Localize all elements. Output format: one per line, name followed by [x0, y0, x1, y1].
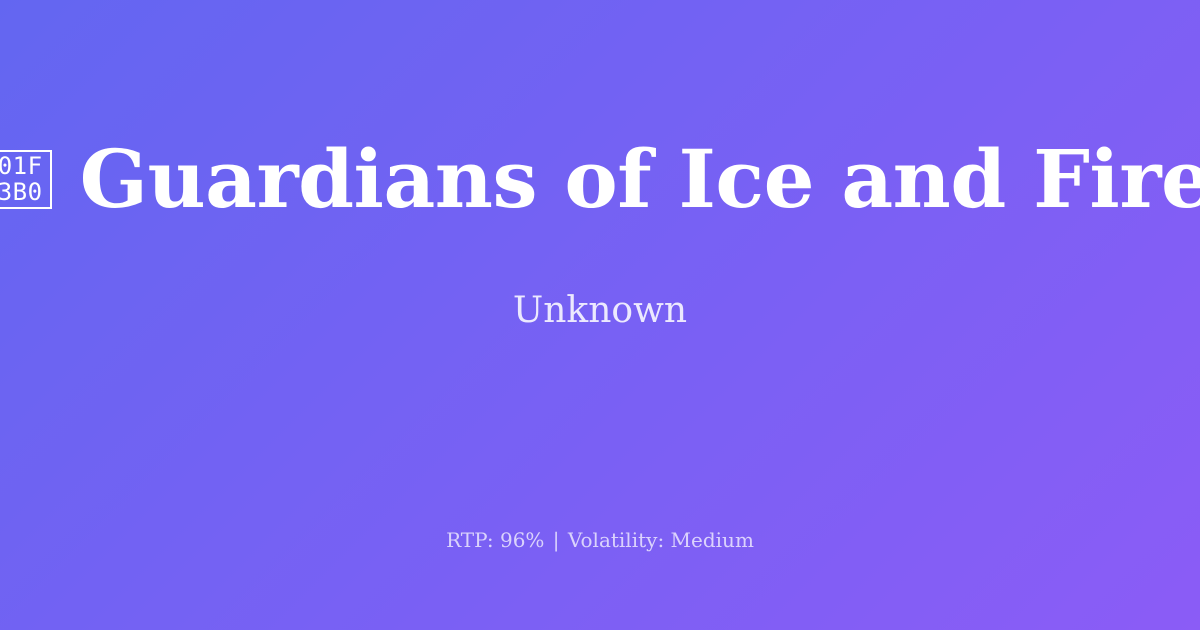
- rtp-value: 96%: [500, 528, 544, 552]
- page-subtitle: Unknown: [513, 291, 687, 331]
- title-row: 01F 3B0 Guardians of Ice and Fire: [36, 139, 1164, 219]
- volatility-value: Medium: [671, 528, 754, 552]
- tofu-codepoint-row-top: 01F: [0, 153, 43, 179]
- rtp-label: RTP:: [446, 528, 494, 552]
- page-title: Guardians of Ice and Fire: [80, 139, 1200, 219]
- volatility-label: Volatility:: [568, 528, 664, 552]
- slot-machine-icon: 01F 3B0: [0, 150, 52, 209]
- meta-separator: |: [551, 528, 562, 552]
- hero-block: 01F 3B0 Guardians of Ice and Fire Unknow…: [0, 0, 1200, 470]
- footer-meta: RTP: 96% | Volatility: Medium: [0, 528, 1200, 552]
- tofu-codepoint-row-bottom: 3B0: [0, 179, 43, 205]
- og-share-card: 01F 3B0 Guardians of Ice and Fire Unknow…: [0, 0, 1200, 630]
